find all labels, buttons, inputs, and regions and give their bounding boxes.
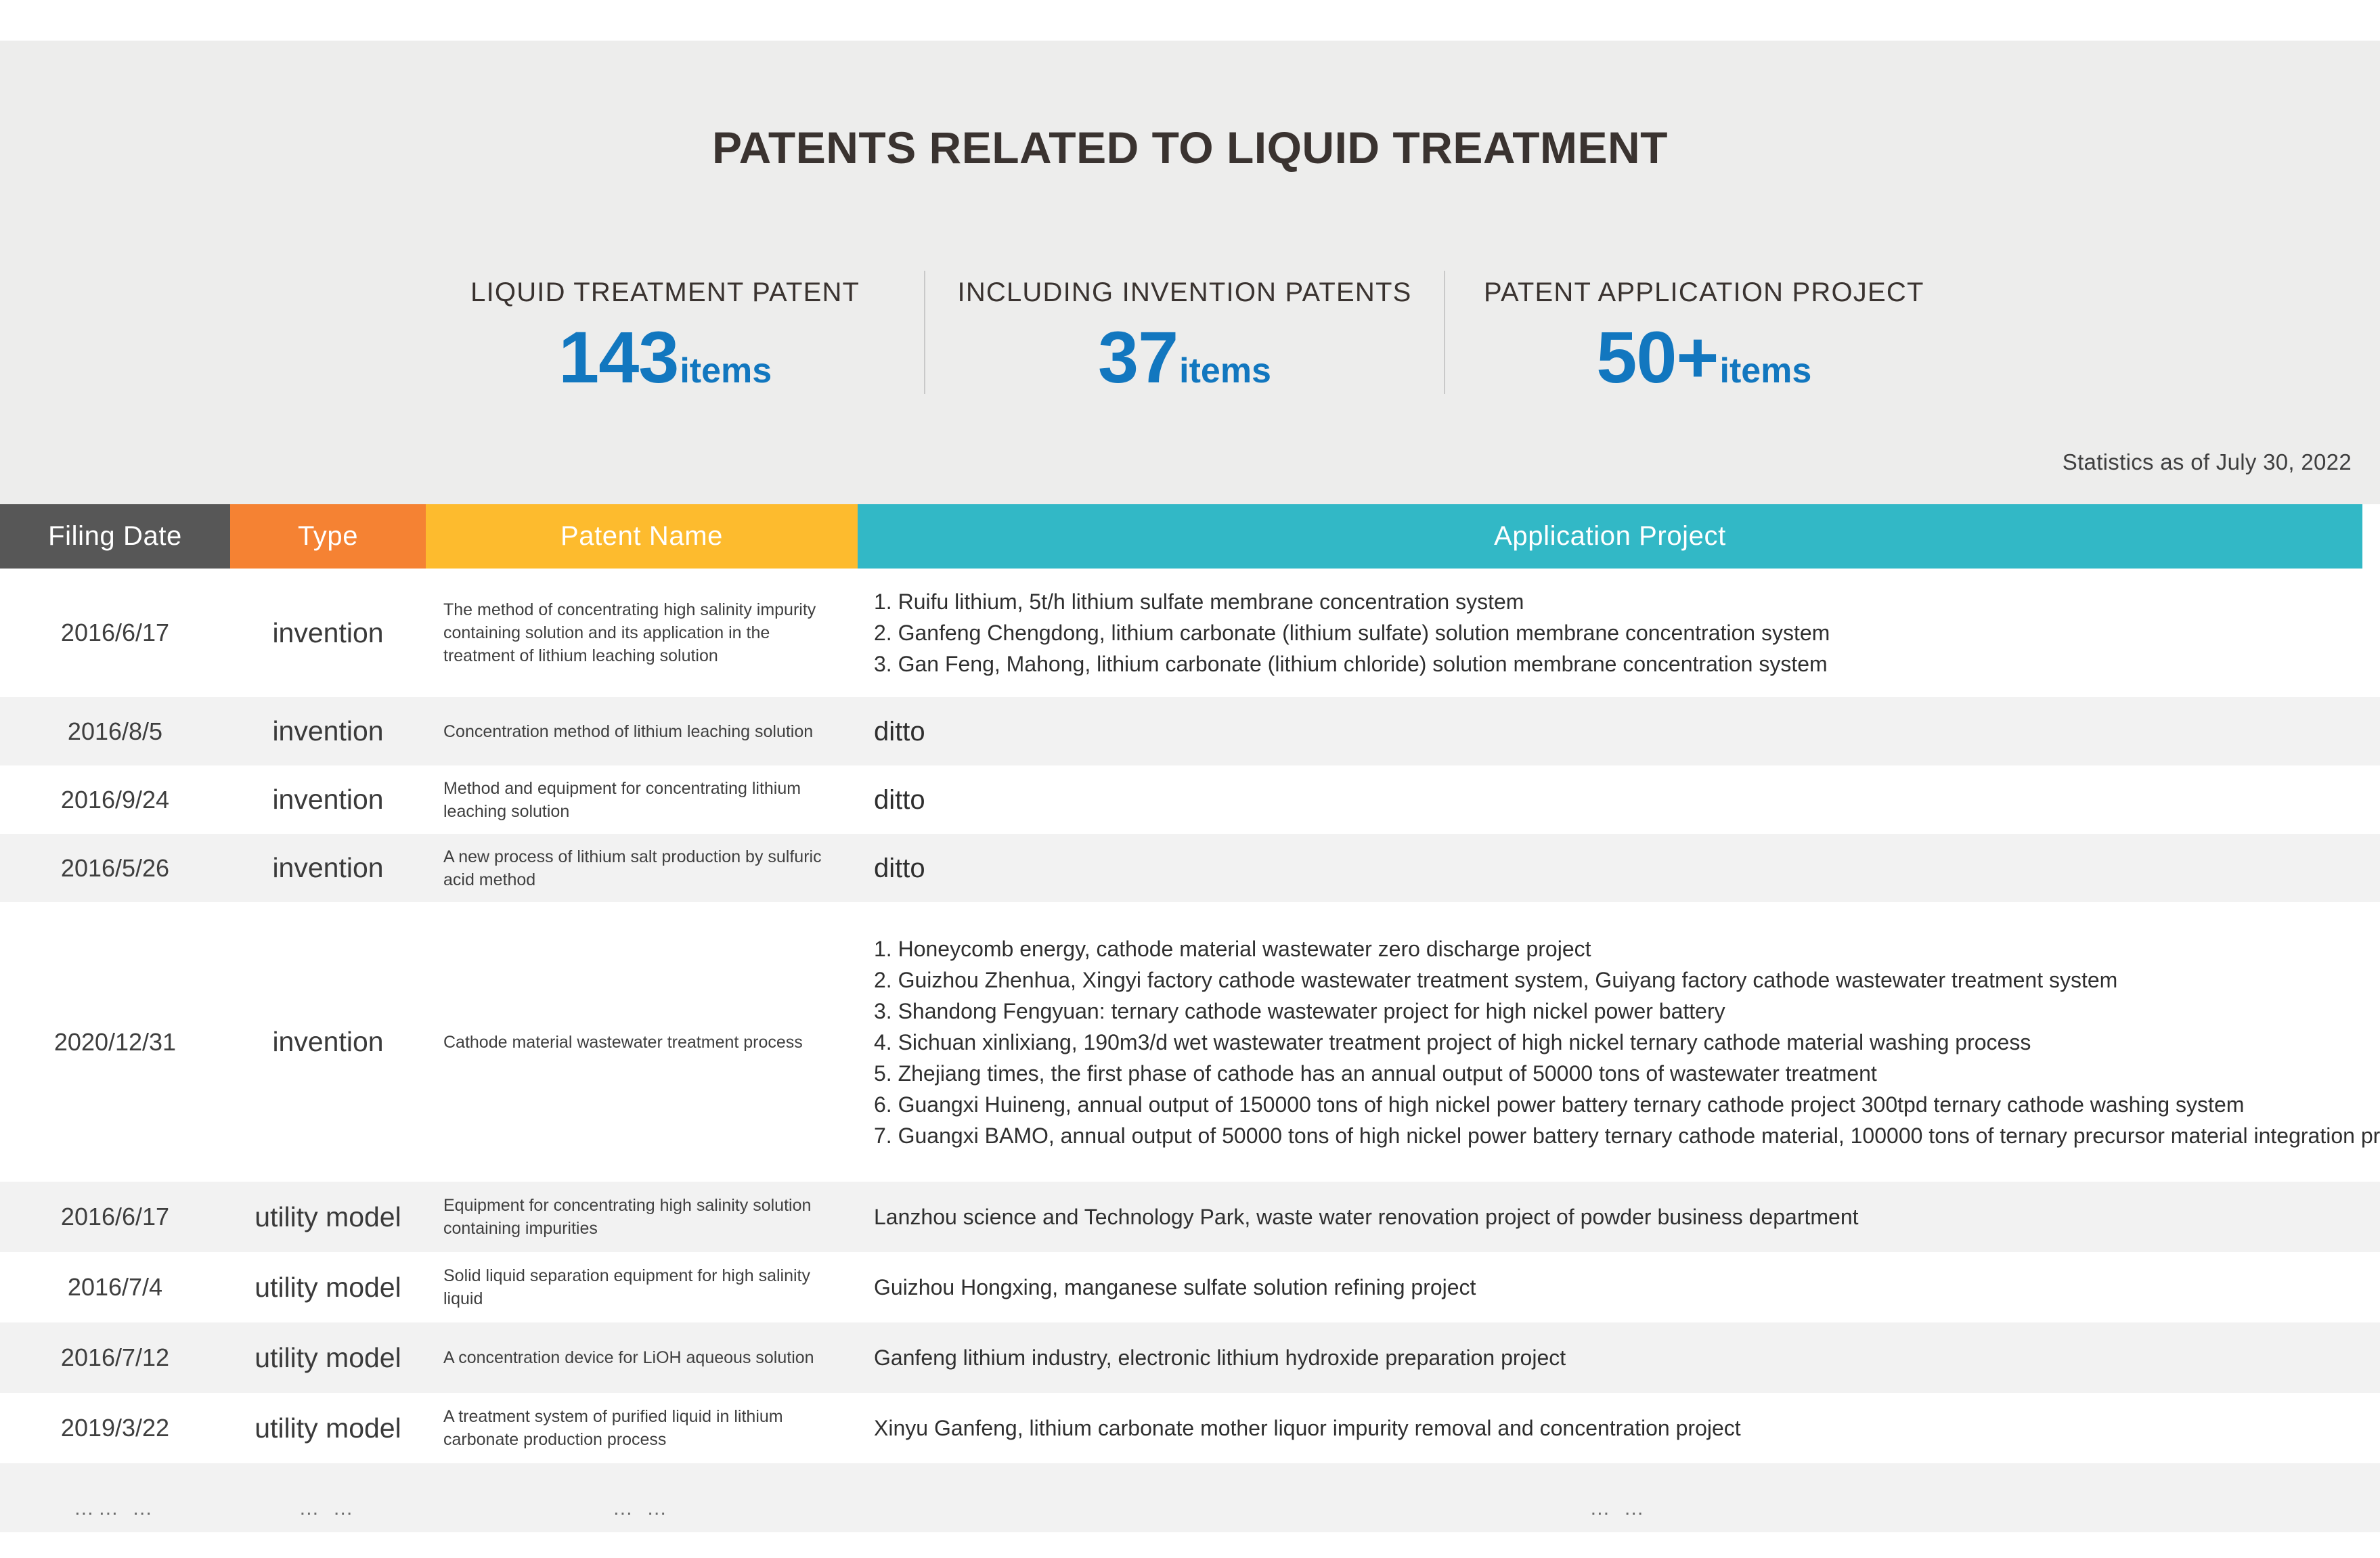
infographic-page: PATENTS RELATED TO LIQUID TREATMENT LIQU… bbox=[0, 0, 2380, 1558]
page-title: PATENTS RELATED TO LIQUID TREATMENT bbox=[0, 122, 2380, 173]
column-header-type: Type bbox=[230, 504, 426, 569]
application-project-list: ditto bbox=[874, 716, 925, 747]
application-project-line: 4. Sichuan xinlixiang, 190m3/d wet waste… bbox=[874, 1027, 2380, 1058]
stat-liquid-treatment-patent: LIQUID TREATMENT PATENT 143items bbox=[406, 271, 924, 394]
ellipsis-application-project: … … bbox=[858, 1463, 2380, 1532]
stat-value: 143items bbox=[426, 321, 904, 394]
stat-including-invention-patents: INCLUDING INVENTION PATENTS 37items bbox=[924, 271, 1443, 394]
cell-patent-name: Solid liquid separation equipment for hi… bbox=[426, 1252, 858, 1322]
application-project-line: 6. Guangxi Huineng, annual output of 150… bbox=[874, 1089, 2380, 1120]
cell-application-project: Guizhou Hongxing, manganese sulfate solu… bbox=[858, 1252, 2380, 1322]
stat-number: 37 bbox=[1098, 316, 1178, 398]
stat-unit: items bbox=[680, 351, 772, 391]
stat-number: 50+ bbox=[1596, 316, 1718, 398]
cell-patent-name: Cathode material wastewater treatment pr… bbox=[426, 902, 858, 1182]
cell-patent-name: A concentration device for LiOH aqueous … bbox=[426, 1322, 858, 1393]
application-project-list: Guizhou Hongxing, manganese sulfate solu… bbox=[874, 1272, 1476, 1303]
cell-filing-date: 2016/8/5 bbox=[0, 697, 230, 765]
application-project-line: 3. Shandong Fengyuan: ternary cathode wa… bbox=[874, 996, 2380, 1027]
stat-label: LIQUID TREATMENT PATENT bbox=[426, 276, 904, 309]
cell-patent-name: Concentration method of lithium leaching… bbox=[426, 697, 858, 765]
application-project-line: 3. Gan Feng, Mahong, lithium carbonate (… bbox=[874, 648, 1830, 680]
cell-application-project: Ganfeng lithium industry, electronic lit… bbox=[858, 1322, 2380, 1393]
cell-type: invention bbox=[230, 902, 426, 1182]
cell-type: utility model bbox=[230, 1393, 426, 1463]
cell-filing-date: 2016/6/17 bbox=[0, 569, 230, 697]
table-row: 2019/3/22utility modelA treatment system… bbox=[0, 1393, 2380, 1463]
application-project-list: ditto bbox=[874, 853, 925, 884]
statistics-asof-note: Statistics as of July 30, 2022 bbox=[2063, 449, 2352, 475]
stat-value: 37items bbox=[946, 321, 1423, 394]
application-project-line: 7. Guangxi BAMO, annual output of 50000 … bbox=[874, 1120, 2380, 1151]
table-body: 2016/6/17inventionThe method of concentr… bbox=[0, 569, 2380, 1532]
application-project-line: Lanzhou science and Technology Park, was… bbox=[874, 1201, 1859, 1232]
stat-number: 143 bbox=[558, 316, 678, 398]
table-row: 2016/9/24inventionMethod and equipment f… bbox=[0, 765, 2380, 834]
application-project-line: ditto bbox=[874, 784, 925, 816]
application-project-line: ditto bbox=[874, 716, 925, 747]
cell-filing-date: 2020/12/31 bbox=[0, 902, 230, 1182]
application-project-line: 5. Zhejiang times, the first phase of ca… bbox=[874, 1058, 2380, 1089]
stat-label: INCLUDING INVENTION PATENTS bbox=[946, 276, 1423, 309]
table-row: 2020/12/31inventionCathode material wast… bbox=[0, 902, 2380, 1182]
application-project-list: 1. Ruifu lithium, 5t/h lithium sulfate m… bbox=[874, 586, 1830, 680]
table-row: 2016/5/26inventionA new process of lithi… bbox=[0, 834, 2380, 902]
stat-label: PATENT APPLICATION PROJECT bbox=[1466, 276, 1943, 309]
cell-filing-date: 2016/7/4 bbox=[0, 1252, 230, 1322]
ellipsis-filing-date: …… … bbox=[0, 1463, 230, 1532]
stat-unit: items bbox=[1720, 351, 1812, 391]
cell-filing-date: 2016/6/17 bbox=[0, 1182, 230, 1252]
cell-patent-name: Method and equipment for concentrating l… bbox=[426, 765, 858, 834]
application-project-line: 1. Honeycomb energy, cathode material wa… bbox=[874, 933, 2380, 964]
application-project-line: 1. Ruifu lithium, 5t/h lithium sulfate m… bbox=[874, 586, 1830, 617]
table-row-ellipsis: …… …… …… …… … bbox=[0, 1463, 2380, 1532]
application-project-list: 1. Honeycomb energy, cathode material wa… bbox=[874, 933, 2380, 1151]
application-project-line: 2. Guizhou Zhenhua, Xingyi factory catho… bbox=[874, 964, 2380, 996]
cell-type: invention bbox=[230, 834, 426, 902]
cell-patent-name: A treatment system of purified liquid in… bbox=[426, 1393, 858, 1463]
application-project-line: ditto bbox=[874, 853, 925, 884]
cell-patent-name: The method of concentrating high salinit… bbox=[426, 569, 858, 697]
application-project-line: 2. Ganfeng Chengdong, lithium carbonate … bbox=[874, 617, 1830, 648]
stat-value: 50+items bbox=[1466, 321, 1943, 394]
cell-type: invention bbox=[230, 569, 426, 697]
cell-application-project: ditto bbox=[858, 697, 2380, 765]
cell-filing-date: 2016/5/26 bbox=[0, 834, 230, 902]
cell-application-project: ditto bbox=[858, 765, 2380, 834]
cell-patent-name: A new process of lithium salt production… bbox=[426, 834, 858, 902]
stat-patent-application-project: PATENT APPLICATION PROJECT 50+items bbox=[1444, 271, 1963, 394]
application-project-line: Guizhou Hongxing, manganese sulfate solu… bbox=[874, 1272, 1476, 1303]
cell-application-project: Lanzhou science and Technology Park, was… bbox=[858, 1182, 2380, 1252]
table-row: 2016/7/12utility modelA concentration de… bbox=[0, 1322, 2380, 1393]
ellipsis-type: … … bbox=[230, 1463, 426, 1532]
cell-application-project: ditto bbox=[858, 834, 2380, 902]
cell-filing-date: 2019/3/22 bbox=[0, 1393, 230, 1463]
application-project-list: Xinyu Ganfeng, lithium carbonate mother … bbox=[874, 1412, 1741, 1444]
application-project-list: Lanzhou science and Technology Park, was… bbox=[874, 1201, 1859, 1232]
column-header-patent-name: Patent Name bbox=[426, 504, 858, 569]
cell-type: utility model bbox=[230, 1322, 426, 1393]
cell-application-project: 1. Ruifu lithium, 5t/h lithium sulfate m… bbox=[858, 569, 2380, 697]
cell-type: invention bbox=[230, 765, 426, 834]
cell-filing-date: 2016/7/12 bbox=[0, 1322, 230, 1393]
cell-type: invention bbox=[230, 697, 426, 765]
cell-application-project: Xinyu Ganfeng, lithium carbonate mother … bbox=[858, 1393, 2380, 1463]
column-header-application-project: Application Project bbox=[858, 504, 2362, 569]
application-project-line: Xinyu Ganfeng, lithium carbonate mother … bbox=[874, 1412, 1741, 1444]
column-header-filing-date: Filing Date bbox=[0, 504, 230, 569]
table-row: 2016/7/4utility modelSolid liquid separa… bbox=[0, 1252, 2380, 1322]
cell-type: utility model bbox=[230, 1182, 426, 1252]
application-project-list: Ganfeng lithium industry, electronic lit… bbox=[874, 1342, 1566, 1373]
patents-table: Filing Date Type Patent Name Application… bbox=[0, 504, 2380, 1532]
table-row: 2016/6/17inventionThe method of concentr… bbox=[0, 569, 2380, 697]
cell-application-project: 1. Honeycomb energy, cathode material wa… bbox=[858, 902, 2380, 1182]
cell-patent-name: Equipment for concentrating high salinit… bbox=[426, 1182, 858, 1252]
summary-stats: LIQUID TREATMENT PATENT 143items INCLUDI… bbox=[406, 271, 1963, 453]
ellipsis-patent-name: … … bbox=[426, 1463, 858, 1532]
table-row: 2016/8/5inventionConcentration method of… bbox=[0, 697, 2380, 765]
application-project-list: ditto bbox=[874, 784, 925, 816]
application-project-line: Ganfeng lithium industry, electronic lit… bbox=[874, 1342, 1566, 1373]
cell-filing-date: 2016/9/24 bbox=[0, 765, 230, 834]
stat-unit: items bbox=[1179, 351, 1271, 391]
cell-type: utility model bbox=[230, 1252, 426, 1322]
table-row: 2016/6/17utility modelEquipment for conc… bbox=[0, 1182, 2380, 1252]
table-header-row: Filing Date Type Patent Name Application… bbox=[0, 504, 2380, 569]
